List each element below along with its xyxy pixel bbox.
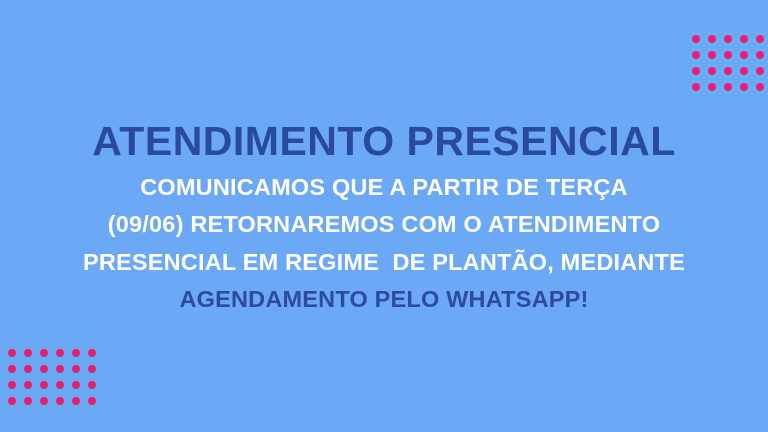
dot	[24, 397, 32, 405]
dot	[40, 349, 48, 357]
body-line-4-call-to-action: AGENDAMENTO PELO WHATSAPP!	[179, 288, 588, 312]
dot	[88, 381, 96, 389]
dot	[24, 349, 32, 357]
dot	[88, 365, 96, 373]
decorative-dot-grid-bottom-left	[4, 345, 100, 409]
dot	[24, 365, 32, 373]
dot	[72, 397, 80, 405]
page-title: ATENDIMENTO PRESENCIAL	[92, 121, 676, 162]
dot	[72, 349, 80, 357]
dot	[72, 365, 80, 373]
poster-canvas: ATENDIMENTO PRESENCIAL COMUNICAMOS QUE A…	[0, 0, 768, 432]
dot	[8, 381, 16, 389]
dot	[56, 381, 64, 389]
dot	[56, 365, 64, 373]
body-line-2: (09/06) RETORNAREMOS COM O ATENDIMENTO	[108, 213, 661, 237]
dot	[72, 381, 80, 389]
dot	[40, 381, 48, 389]
dot	[40, 365, 48, 373]
body-line-1: COMUNICAMOS QUE A PARTIR DE TERÇA	[140, 176, 627, 200]
dot	[8, 365, 16, 373]
poster-text-block: ATENDIMENTO PRESENCIAL COMUNICAMOS QUE A…	[0, 0, 768, 432]
dot	[88, 397, 96, 405]
body-line-3: PRESENCIAL EM REGIME DE PLANTÃO, MEDIANT…	[83, 251, 685, 275]
dot	[56, 397, 64, 405]
dot	[40, 397, 48, 405]
dot	[8, 349, 16, 357]
dot	[24, 381, 32, 389]
dot	[88, 349, 96, 357]
dot	[56, 349, 64, 357]
dot	[8, 397, 16, 405]
